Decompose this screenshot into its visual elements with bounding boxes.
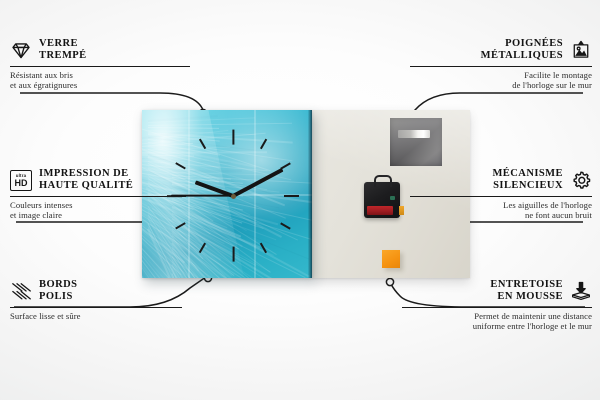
callout-rule [10, 66, 190, 67]
callout-title: MÉCANISME SILENCIEUX [492, 168, 563, 193]
callout-title: ENTRETOISE EN MOUSSE [490, 279, 563, 304]
diamond-icon [10, 40, 32, 60]
callout-mecanisme-silencieux: MÉCANISME SILENCIEUX Les aiguilles de l'… [404, 168, 592, 221]
polished-edges-icon [10, 281, 32, 301]
ultra-hd-icon: ultra HD [10, 170, 32, 190]
foam-spacer-icon [570, 281, 592, 301]
infographic-canvas: VERRE TREMPÉ Résistant aux bris et aux é… [0, 0, 600, 400]
callout-subtitle: Surface lisse et sûre [10, 311, 198, 321]
callout-rule [410, 196, 592, 197]
metal-hanger-plate [390, 118, 442, 166]
callout-impression-haute-qualite: ultra HD IMPRESSION DE HAUTE QUALITÉ Cou… [10, 168, 198, 221]
callout-subtitle: Couleurs intenses et image claire [10, 200, 198, 221]
callout-poignees-metalliques: POIGNÉES MÉTALLIQUES Facilite le montage… [404, 38, 592, 91]
callout-rule [10, 196, 186, 197]
callout-subtitle: Permet de maintenir une distance uniform… [396, 311, 592, 332]
clock-tick [284, 195, 299, 197]
clock-tick [260, 243, 267, 253]
callout-title: VERRE TREMPÉ [39, 38, 87, 63]
mechanism-label [390, 196, 395, 200]
hanger-slot [398, 130, 430, 138]
ultra-hd-icon-bottom: HD [15, 179, 28, 188]
callout-subtitle: Les aiguilles de l'horloge ne font aucun… [404, 200, 592, 221]
callout-rule [402, 307, 592, 308]
clock-minute-hand [232, 168, 283, 197]
clock-center-cap [231, 194, 236, 199]
clock-tick [199, 243, 206, 253]
callout-bords-polis: BORDS POLIS Surface lisse et sûre [10, 279, 198, 321]
callout-title: BORDS POLIS [39, 279, 77, 304]
callout-rule [10, 307, 182, 308]
picture-hanger-icon [570, 40, 592, 60]
callout-subtitle: Résistant aux bris et aux égratignures [10, 70, 198, 91]
connector-line-verre-trempe [20, 93, 203, 110]
battery [367, 206, 393, 215]
callout-subtitle: Facilite le montage de l'horloge sur le … [404, 70, 592, 91]
callout-entretoise-en-mousse: ENTRETOISE EN MOUSSE Permet de maintenir… [396, 279, 592, 332]
callout-title: IMPRESSION DE HAUTE QUALITÉ [39, 168, 133, 193]
clock-tick [232, 247, 234, 262]
callout-rule [410, 66, 592, 67]
clock-tick [199, 138, 206, 148]
clock-tick [280, 223, 290, 230]
foam-spacer [382, 250, 400, 268]
clock-tick [175, 223, 185, 230]
clock-tick [232, 130, 234, 145]
clock-tick [260, 138, 267, 148]
clock-mechanism [364, 182, 400, 218]
mechanism-hook [374, 175, 392, 187]
gear-icon [570, 170, 592, 190]
callout-verre-trempe: VERRE TREMPÉ Résistant aux bris et aux é… [10, 38, 198, 91]
callout-title: POIGNÉES MÉTALLIQUES [481, 38, 563, 63]
connector-dot-entretoise [386, 278, 393, 285]
